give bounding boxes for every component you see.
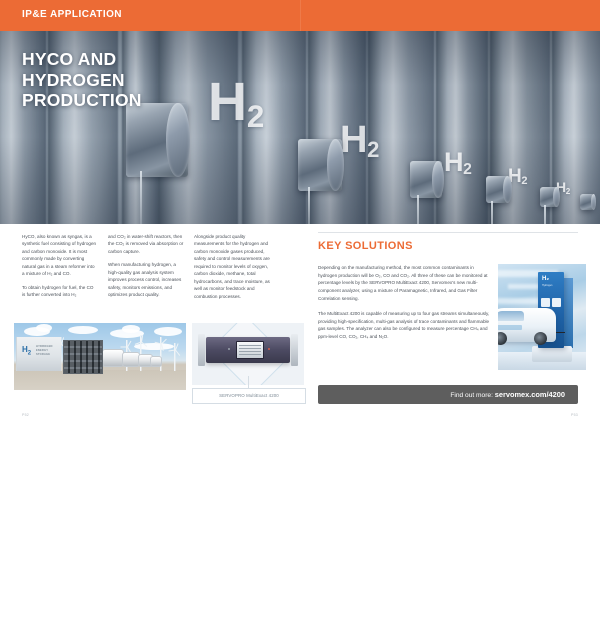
paragraph: Depending on the manufacturing method, t… bbox=[318, 264, 490, 302]
paragraph: When manufacturing hydrogen, a high-qual… bbox=[108, 261, 184, 298]
find-out-more-prefix: Find out more: bbox=[450, 392, 494, 399]
tank-flange-4 bbox=[486, 176, 510, 203]
hero-image: H2 H2 H2 H2 H2 HYCO AND HYDROGEN PRODUCT… bbox=[0, 31, 600, 224]
caption-leader-line bbox=[248, 376, 249, 388]
top-banner: IP&E APPLICATION bbox=[0, 0, 600, 31]
battery-rack bbox=[63, 340, 103, 374]
banner-label: IP&E APPLICATION bbox=[22, 9, 122, 20]
product-caption: SERVOPRO MultiExact 4200 bbox=[193, 393, 305, 398]
hero-watermark-h2-2: H2 bbox=[340, 121, 379, 159]
find-out-more-bar[interactable]: Find out more: servomex.com/4200 bbox=[318, 385, 578, 404]
key-solutions-rule bbox=[318, 232, 578, 233]
tank-flange-3 bbox=[410, 161, 442, 198]
image-hydrogen-refuelling-station: H₂ Hydrogen bbox=[498, 264, 586, 370]
paragraph: and CO₂ in water-shift reactors, then th… bbox=[108, 233, 184, 255]
dispenser-h2-label: H₂ bbox=[542, 276, 549, 282]
analyzer-screen bbox=[236, 341, 264, 359]
page-gutter-divider bbox=[300, 448, 301, 624]
banner-seam bbox=[300, 0, 301, 31]
find-out-more-text: Find out more: servomex.com/4200 bbox=[450, 390, 565, 399]
paragraph: HyCO, also known as syngas, is a synthet… bbox=[22, 233, 98, 278]
tank-flange-5 bbox=[540, 187, 558, 207]
find-out-more-url[interactable]: servomex.com/4200 bbox=[495, 390, 565, 399]
text-column-2: and CO₂ in water-shift reactors, then th… bbox=[108, 233, 184, 305]
paragraph: To obtain hydrogen for fuel, the CO is f… bbox=[22, 284, 98, 299]
text-column-3: Alongside product quality measurements f… bbox=[194, 233, 270, 306]
container-label: HYDROGENENERGYSTORAGE bbox=[36, 345, 53, 357]
image-hydrogen-storage: H2 HYDROGENENERGYSTORAGE bbox=[14, 323, 186, 390]
dispenser-base bbox=[532, 346, 572, 362]
analyzer-device bbox=[206, 337, 290, 363]
wind-turbine-icon bbox=[174, 343, 175, 371]
key-solutions-body: Depending on the manufacturing method, t… bbox=[318, 264, 490, 349]
tanker-trailer bbox=[102, 349, 124, 367]
hero-title: HYCO AND HYDROGEN PRODUCTION bbox=[22, 49, 142, 111]
text-column-1: HyCO, also known as syngas, is a synthet… bbox=[22, 233, 98, 305]
tank-flange-2 bbox=[298, 139, 342, 191]
hero-title-line-2: HYDROGEN bbox=[22, 70, 142, 91]
hero-title-line-1: HYCO AND bbox=[22, 49, 142, 70]
hero-watermark-h2-1: H2 bbox=[208, 75, 264, 129]
hydrogen-storage-container: H2 HYDROGENENERGYSTORAGE bbox=[16, 337, 61, 371]
dispenser-sublabel: Hydrogen bbox=[542, 284, 552, 287]
fuel-cell-car bbox=[498, 308, 556, 342]
paragraph: Alongside product quality measurements f… bbox=[194, 233, 270, 300]
tank-flange-1 bbox=[126, 103, 188, 177]
product-caption-box: SERVOPRO MultiExact 4200 bbox=[192, 388, 306, 404]
page-number-left: P52 bbox=[22, 413, 29, 417]
brochure-page: IP&E APPLICATION H2 H2 H2 H2 H2 bbox=[0, 0, 600, 424]
hero-watermark-h2-3: H2 bbox=[444, 149, 471, 176]
key-solutions-title: KEY SOLUTIONS bbox=[318, 240, 413, 252]
hero-title-line-3: PRODUCTION bbox=[22, 90, 142, 111]
tank-flange-6 bbox=[580, 194, 594, 210]
tanker-trailer bbox=[150, 356, 162, 367]
h2-logo-icon: H2 bbox=[22, 345, 31, 357]
page-number-right: P53 bbox=[571, 413, 578, 417]
paragraph: The MultiExact 4200 is capable of measur… bbox=[318, 310, 490, 341]
